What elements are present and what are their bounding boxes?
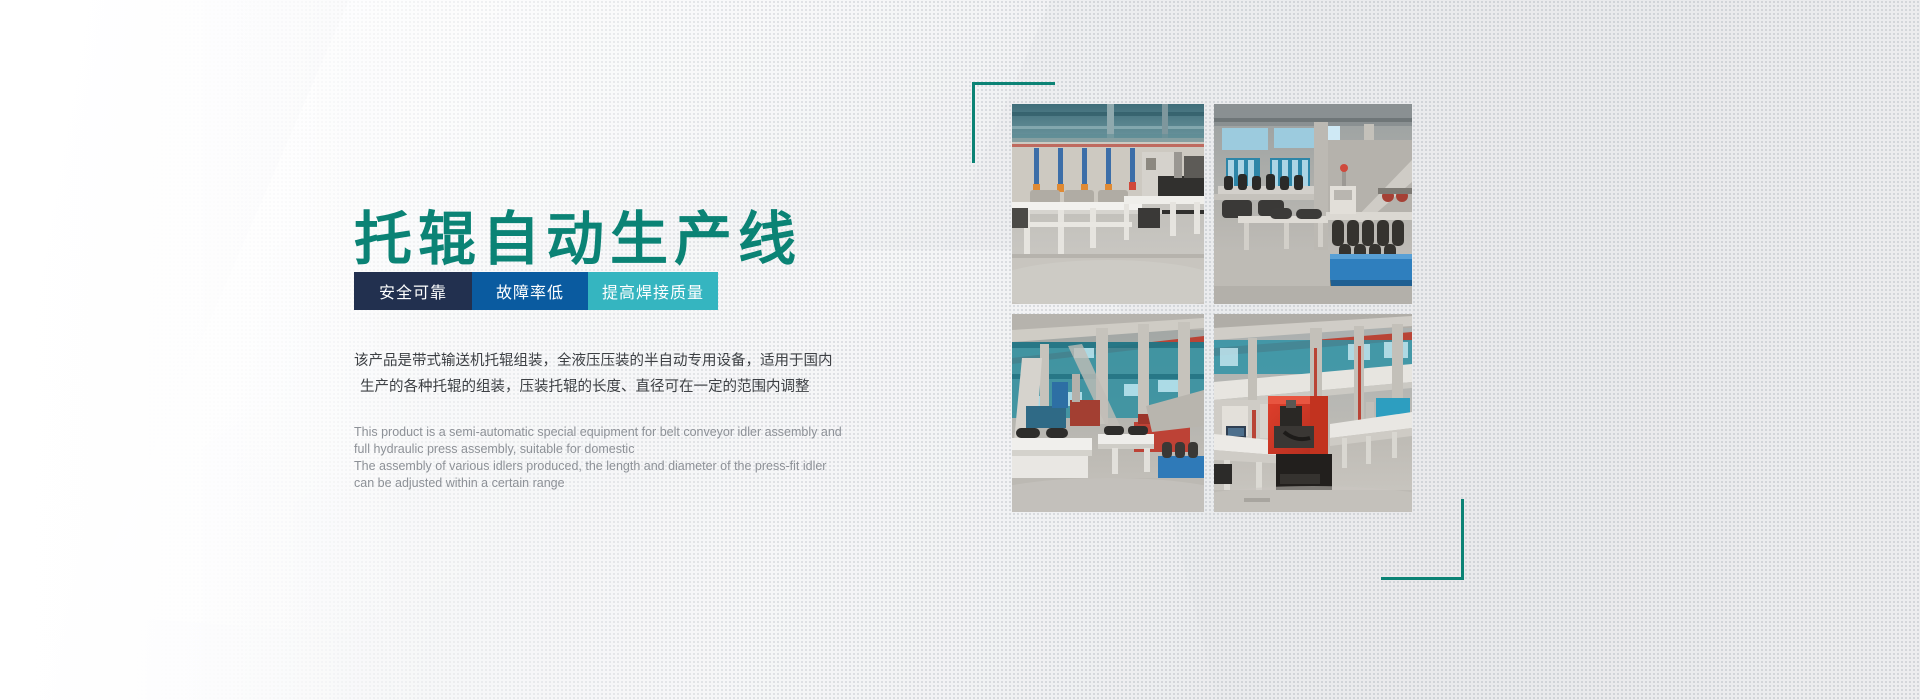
product-banner: 托辊自动生产线 安全可靠 故障率低 提高焊接质量 该产品是带式输送机托辊组装，全… [0,0,1920,700]
description-english: This product is a semi-automatic special… [354,424,914,492]
description-english-line-4: can be adjusted within a certain range [354,475,914,492]
page-title: 托辊自动生产线 [354,211,802,269]
photo-assembly-hall-image [1012,314,1204,512]
description-chinese-line-1: 该产品是带式输送机托辊组装，全液压压装的半自动专用设备，适用于国内 [354,348,914,374]
feature-badge-safe-reliable[interactable]: 安全可靠 [354,272,472,310]
feature-badge-low-failure-rate[interactable]: 故障率低 [472,272,588,310]
description-english-line-2: full hydraulic press assembly, suitable … [354,441,914,458]
banner-text-column: 托辊自动生产线 安全可靠 故障率低 提高焊接质量 该产品是带式输送机托辊组装，全… [354,0,974,700]
feature-badge-row: 安全可靠 故障率低 提高焊接质量 [354,272,718,310]
photo-red-press-machine-image [1214,314,1412,512]
description-english-line-3: The assembly of various idlers produced,… [354,458,914,475]
feature-badge-improved-weld-quality[interactable]: 提高焊接质量 [588,272,718,310]
photo-workshop-bins[interactable] [1214,104,1412,304]
photo-grid [1012,104,1412,534]
description-chinese: 该产品是带式输送机托辊组装，全液压压装的半自动专用设备，适用于国内 生产的各种托… [354,348,914,400]
photo-red-press-machine[interactable] [1214,314,1412,512]
photo-assembly-hall[interactable] [1012,314,1204,512]
photo-conveyor-line[interactable] [1012,104,1204,304]
product-photo-gallery [1012,104,1412,534]
photo-workshop-bins-image [1214,104,1412,304]
description-english-line-1: This product is a semi-automatic special… [354,424,914,441]
description-chinese-line-2: 生产的各种托辊的组装，压装托辊的长度、直径可在一定的范围内调整 [354,374,914,400]
photo-conveyor-line-image [1012,104,1204,304]
